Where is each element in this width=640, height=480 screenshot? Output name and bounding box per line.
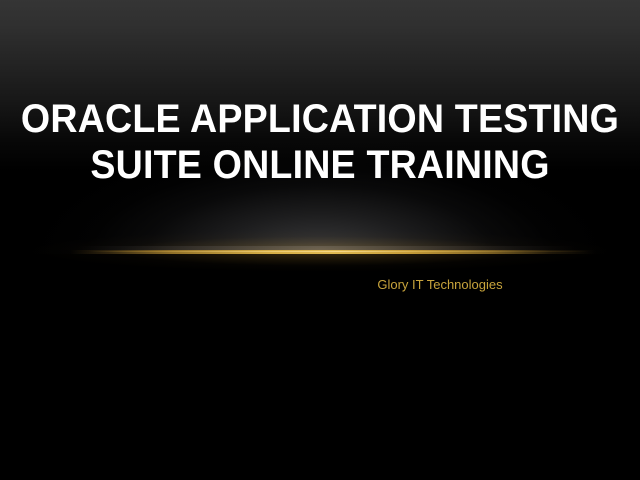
slide-title: ORACLE APPLICATION TESTING SUITE ONLINE … [0,96,640,188]
background-gradient [0,0,640,480]
slide-title-line-2: SUITE ONLINE TRAINING [19,142,621,188]
slide-title-line-1: ORACLE APPLICATION TESTING [19,96,621,142]
slide-subtitle: Glory IT Technologies [322,277,558,293]
title-slide: ORACLE APPLICATION TESTING SUITE ONLINE … [0,0,640,480]
